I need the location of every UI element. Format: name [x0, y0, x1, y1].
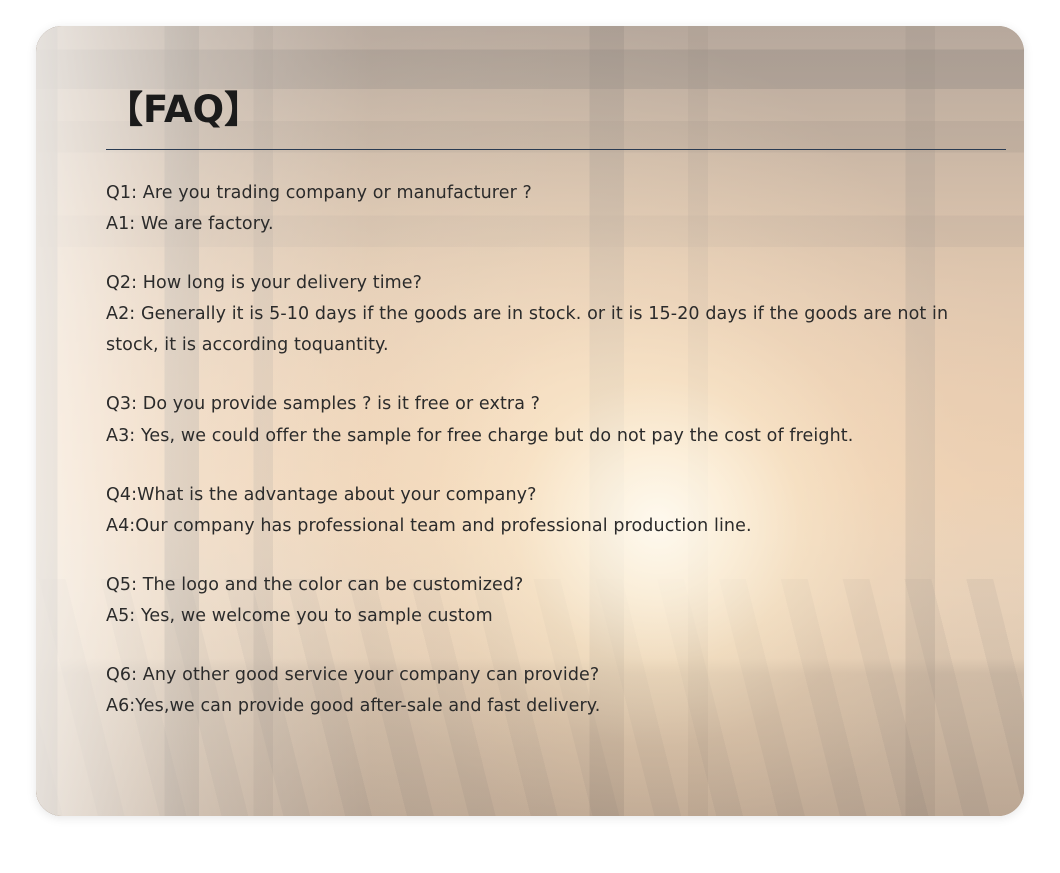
faq-answer: A3: Yes, we could offer the sample for f…: [106, 421, 964, 452]
faq-item: Q2: How long is your delivery time? A2: …: [106, 268, 964, 361]
faq-item: Q4:What is the advantage about your comp…: [106, 480, 964, 542]
faq-question: Q5: The logo and the color can be custom…: [106, 570, 964, 601]
title-divider: [106, 149, 1006, 150]
faq-item: Q6: Any other good service your company …: [106, 660, 964, 722]
faq-answer: A6:Yes,we can provide good after-sale an…: [106, 691, 964, 722]
faq-item: Q1: Are you trading company or manufactu…: [106, 178, 964, 240]
faq-answer: A4:Our company has professional team and…: [106, 511, 964, 542]
faq-question: Q4:What is the advantage about your comp…: [106, 480, 964, 511]
faq-question: Q2: How long is your delivery time?: [106, 268, 964, 299]
faq-item: Q3: Do you provide samples ? is it free …: [106, 389, 964, 451]
faq-question: Q3: Do you provide samples ? is it free …: [106, 389, 964, 420]
faq-answer: A5: Yes, we welcome you to sample custom: [106, 601, 964, 632]
faq-answer: A2: Generally it is 5-10 days if the goo…: [106, 299, 964, 361]
faq-item: Q5: The logo and the color can be custom…: [106, 570, 964, 632]
faq-content: 【FAQ】 Q1: Are you trading company or man…: [36, 26, 1024, 816]
faq-card: 【FAQ】 Q1: Are you trading company or man…: [36, 26, 1024, 816]
page-title: 【FAQ】: [106, 90, 964, 131]
faq-question: Q1: Are you trading company or manufactu…: [106, 178, 964, 209]
faq-answer: A1: We are factory.: [106, 209, 964, 240]
faq-question: Q6: Any other good service your company …: [106, 660, 964, 691]
page-root: 【FAQ】 Q1: Are you trading company or man…: [0, 0, 1060, 873]
faq-list: Q1: Are you trading company or manufactu…: [106, 178, 964, 723]
